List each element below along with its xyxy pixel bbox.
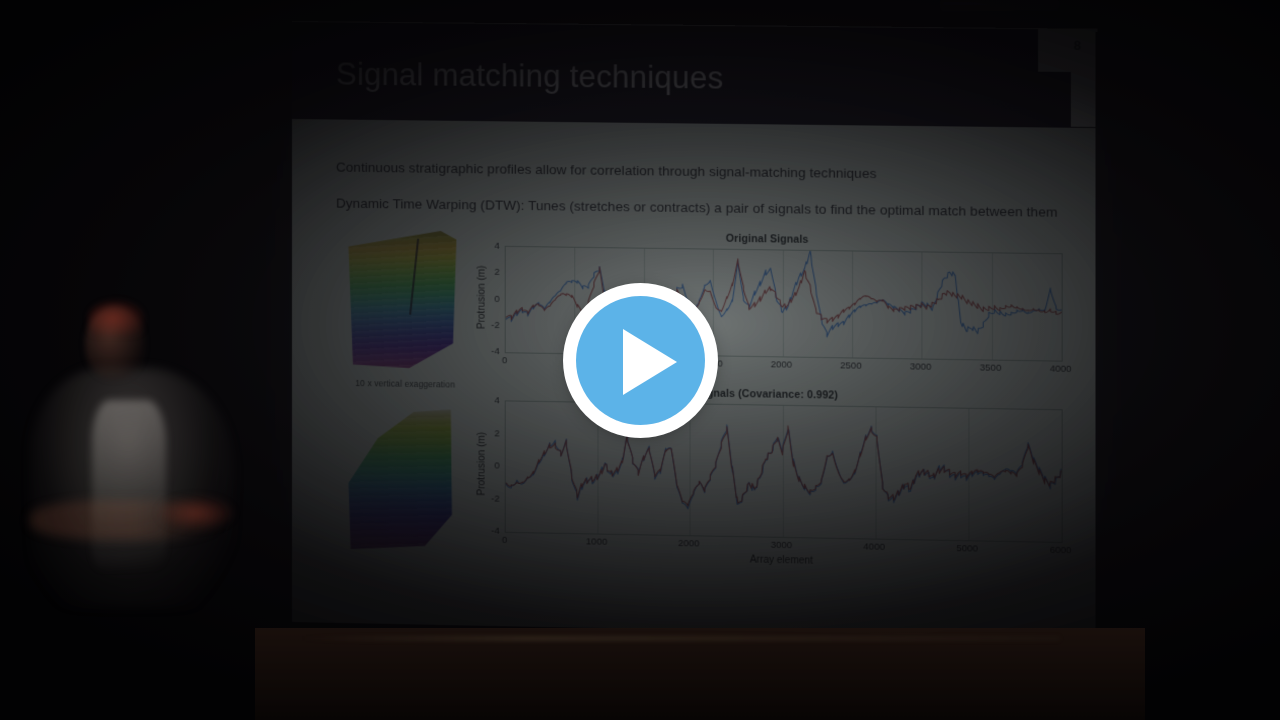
y-axis-label: Protrusion (m) — [476, 251, 487, 341]
video-frame: Signal matching techniques 8 Continuous … — [0, 0, 1280, 720]
x-tick-label: 3000 — [910, 361, 932, 372]
y-tick-label: 4 — [480, 240, 500, 251]
x-tick-label: 2500 — [840, 360, 862, 371]
x-tick-label: 2000 — [771, 359, 792, 370]
presenter-silhouette — [30, 300, 260, 660]
corner-step-lower — [1071, 72, 1096, 127]
presenter-body — [30, 368, 235, 608]
corner-step-upper — [1038, 29, 1095, 72]
page-number: 8 — [1074, 38, 1081, 53]
x-tick-label: 3500 — [980, 362, 1002, 373]
slide-header: Signal matching techniques — [292, 22, 1096, 128]
x-tick-label: 1000 — [586, 536, 607, 547]
slide-title: Signal matching techniques — [336, 56, 723, 96]
presenter-arm — [30, 500, 220, 540]
chart-tuned-signals: Signals (Covariance: 0.992) 010002000300… — [466, 384, 1070, 571]
ceiling-light — [940, 0, 1060, 16]
x-tick-label: 5000 — [956, 543, 978, 555]
x-tick-label: 2000 — [678, 538, 699, 549]
y-tick-label: -4 — [480, 525, 500, 536]
desk-highlight — [300, 636, 1060, 641]
stratigraphic-block-bottom — [344, 405, 456, 557]
x-tick-label: 4000 — [863, 541, 885, 553]
x-tick-label: 4000 — [1050, 363, 1072, 374]
x-tick-label: 0 — [502, 355, 507, 366]
presenter-hair — [88, 300, 144, 336]
x-tick-label: 3000 — [771, 540, 792, 551]
block-bottom-sheen — [344, 405, 456, 557]
x-tick-label: 6000 — [1050, 545, 1072, 557]
vertical-exaggeration-caption: 10 x vertical exaggeration — [340, 378, 470, 390]
presenter-hand — [158, 496, 234, 530]
presenter-head — [85, 306, 145, 380]
slide-corner-block: 8 — [1013, 29, 1095, 127]
body-line-1: Continuous stratigraphic profiles allow … — [336, 160, 877, 182]
chart-original-signals: Original Signals 05001000150020002500300… — [466, 229, 1070, 379]
stratigraphic-block-top — [344, 230, 456, 372]
x-tick-label: 0 — [502, 535, 507, 546]
front-desk — [255, 628, 1145, 720]
play-button[interactable] — [563, 283, 718, 438]
presenter-shirt — [92, 400, 166, 570]
block-top-sheen — [344, 230, 456, 372]
y-axis-label: Protrusion (m) — [476, 418, 487, 508]
body-line-2: Dynamic Time Warping (DTW): Tunes (stret… — [336, 196, 1058, 220]
y-tick-label: 4 — [480, 394, 500, 405]
y-tick-label: -4 — [480, 345, 500, 356]
play-icon — [623, 329, 677, 395]
